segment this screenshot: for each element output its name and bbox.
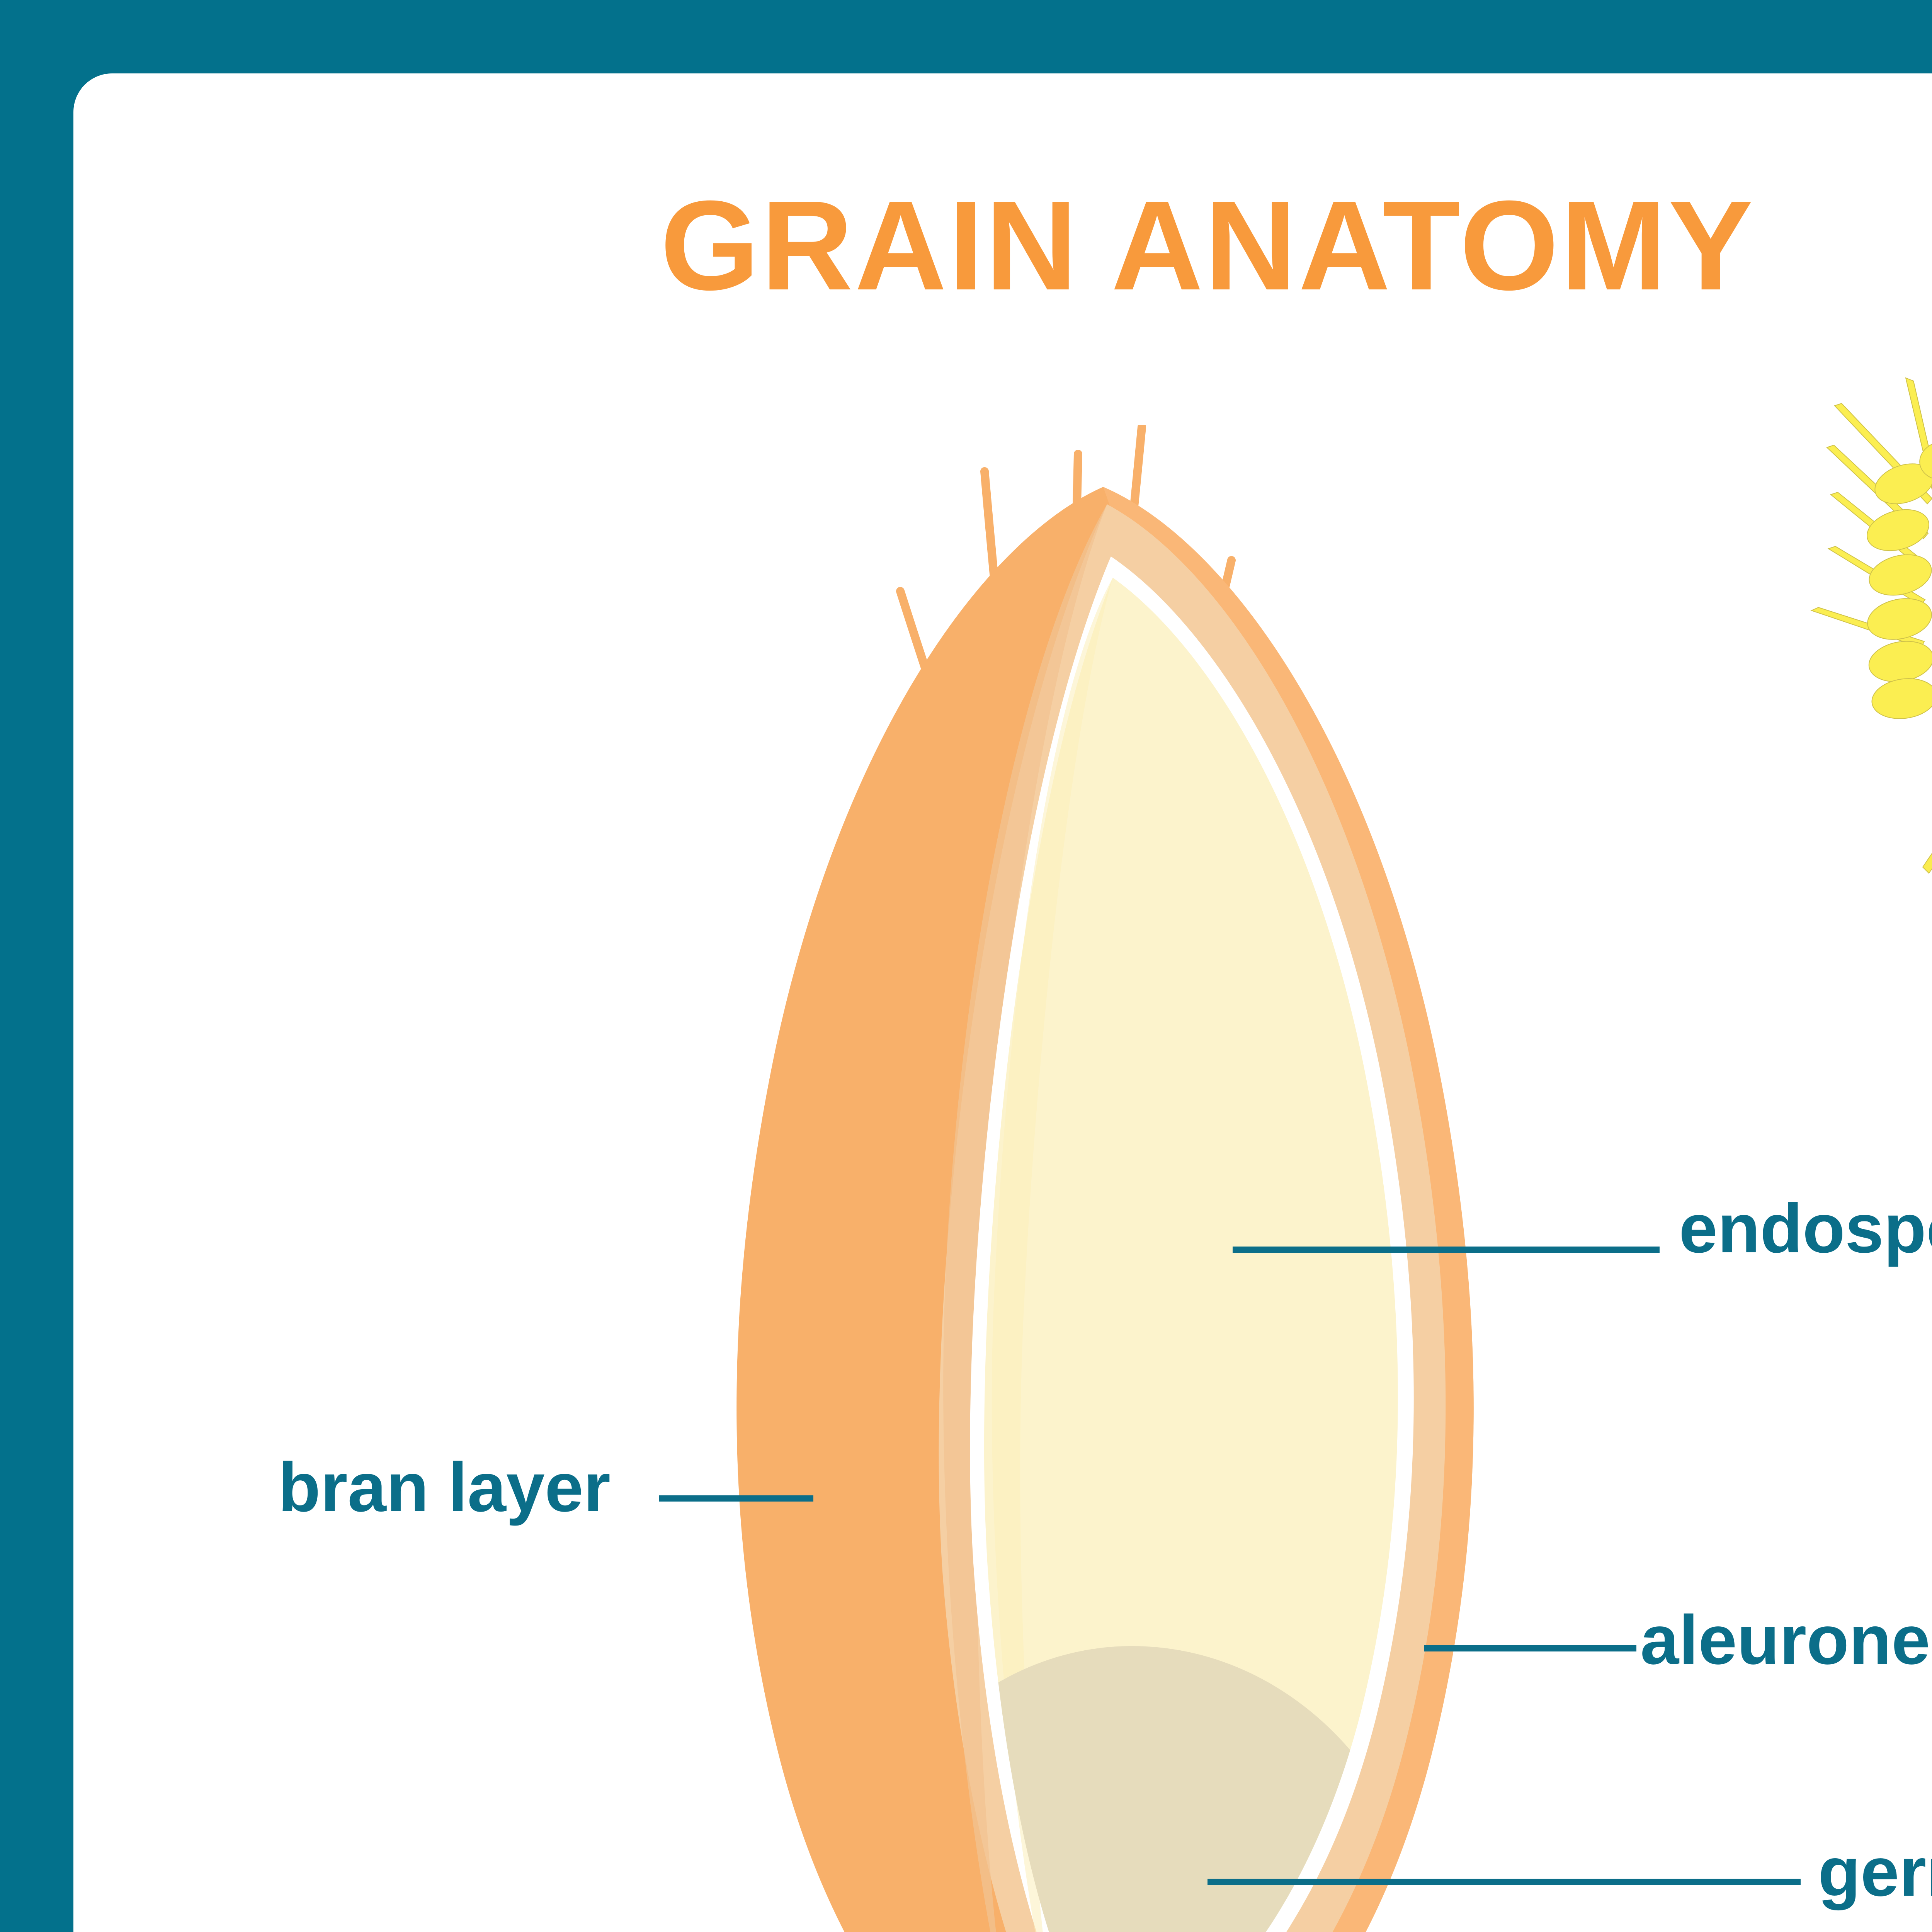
wheat-ear-left bbox=[1811, 378, 1932, 726]
grain-cross-section-illustration bbox=[657, 425, 1526, 1932]
label-bran-layer: bran layer bbox=[278, 1453, 611, 1522]
wheat-stems bbox=[1923, 603, 1932, 1097]
leader-line-endosperm bbox=[1233, 1247, 1660, 1253]
poster-canvas: GRAIN ANATOMY bbox=[0, 0, 1932, 1932]
label-aleurone-layer: aleurone layer bbox=[1640, 1605, 1932, 1675]
label-germ: germ bbox=[1818, 1837, 1932, 1907]
label-endosperm: endosperm bbox=[1679, 1194, 1932, 1264]
page-title: GRAIN ANATOMY bbox=[0, 182, 1932, 309]
wheat-ears-illustration bbox=[1762, 332, 1932, 1105]
leader-line-bran-layer bbox=[659, 1495, 813, 1502]
leader-line-aleurone-layer bbox=[1424, 1645, 1636, 1651]
leader-line-germ bbox=[1207, 1879, 1801, 1885]
